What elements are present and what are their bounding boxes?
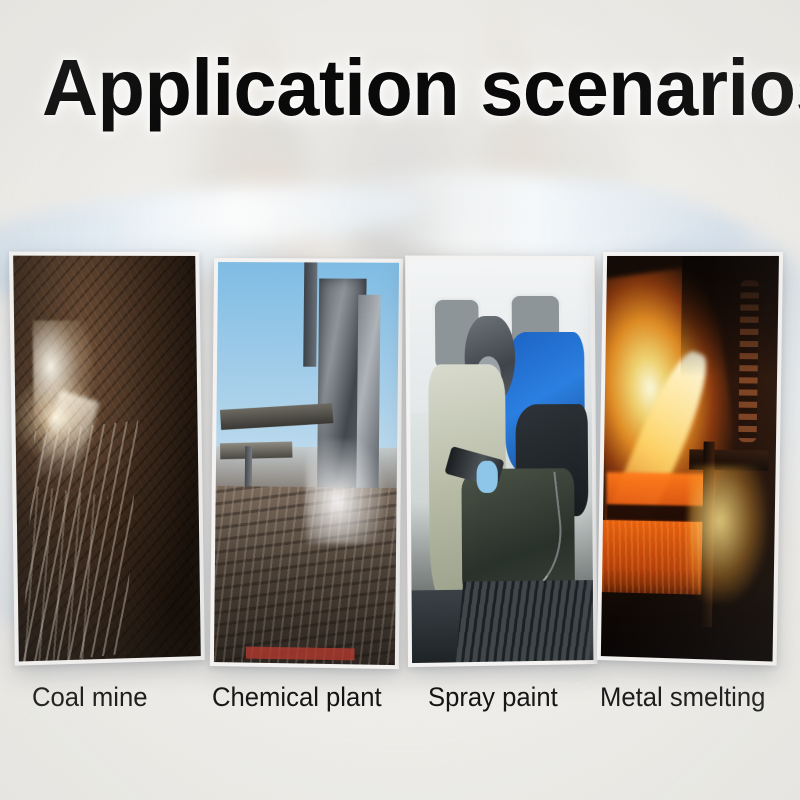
caption-spray-paint: Spray paint [428, 682, 558, 713]
scenario-photo-coal-mine[interactable] [9, 252, 205, 666]
scenario-photo-chemical-plant[interactable] [210, 258, 403, 669]
plant-smokestack [304, 262, 318, 366]
booth-floor-grate [455, 580, 593, 662]
spray-paint-photo [409, 260, 593, 664]
furnace-shadow-bottom [601, 584, 774, 661]
scenario-panel-row [0, 0, 800, 800]
scenario-photo-metal-smelting[interactable] [597, 252, 783, 666]
furnace-sparks [687, 465, 769, 604]
plant-steam-plume [305, 439, 386, 544]
plant-gantry-lower [220, 442, 293, 460]
scenario-photo-spray-paint[interactable] [405, 255, 597, 667]
furnace-shadow-top [680, 256, 779, 378]
caption-coal-mine: Coal mine [32, 682, 147, 713]
metal-smelting-photo [601, 256, 779, 662]
plant-red-structure [246, 647, 355, 661]
coal-mine-photo [13, 256, 201, 662]
caption-metal-smelting: Metal smelting [600, 682, 765, 713]
caption-chemical-plant: Chemical plant [212, 682, 382, 713]
application-scenarios-poster: Application scenarios [0, 0, 800, 800]
chemical-plant-photo [214, 262, 399, 665]
